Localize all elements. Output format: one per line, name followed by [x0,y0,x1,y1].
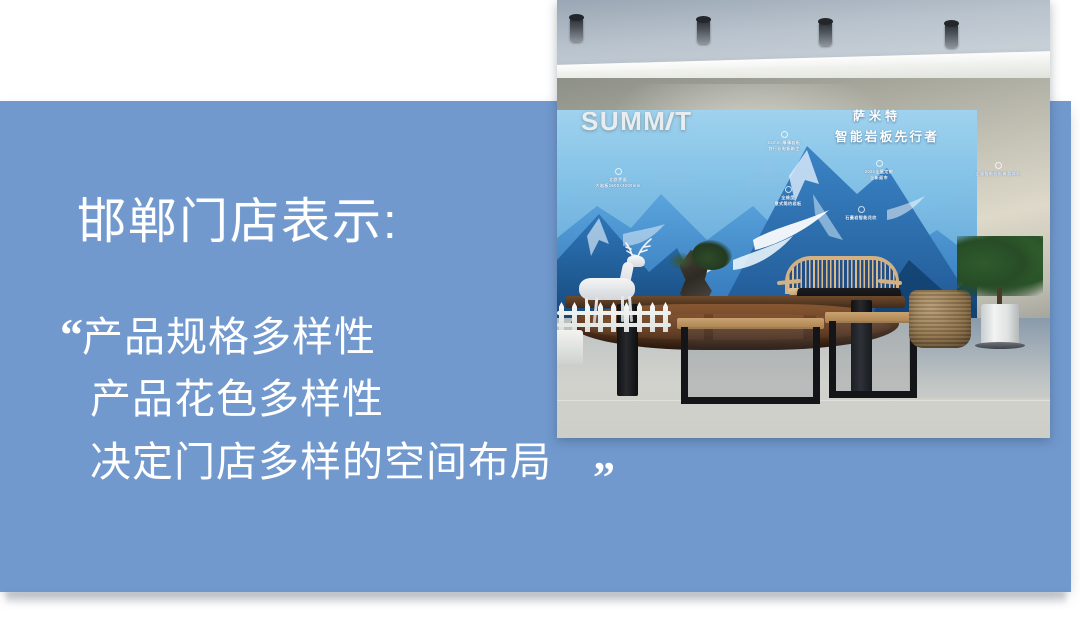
bench-stool [677,318,824,402]
mural-annotation: 全屋智能岩板直营体系 [969,162,1027,177]
quote-line-3: 决定门店多样的空间布局 [90,431,680,493]
fence-picket [663,302,668,332]
bench-stool [825,312,921,392]
quote-open-mark: “ [60,312,83,358]
mural-tagline-cn: 智能岩板先行者 [835,126,939,145]
logo-part-1: SUMM [581,106,666,136]
annotation-line-2: 划行业电板新生 [768,146,799,151]
fence-picket [585,302,590,332]
rockery-foliage [668,252,694,270]
annotation-dot-icon [995,162,1002,169]
track-light-icon [945,24,958,48]
quote-close-mark: ” [593,456,615,500]
track-light-icon [819,22,832,46]
rockery-foliage [692,240,732,270]
annotation-line-1: 15mm 厚薄岩板 [768,140,801,145]
picket-fence [557,300,671,334]
white-display-object [557,330,583,364]
annotation-dot-icon [858,206,865,213]
fence-rail [557,311,671,315]
plant-foliage [957,236,1043,296]
annotation-dot-icon [615,168,622,175]
fence-picket [559,302,564,332]
panel-drop-shadow [6,592,1066,608]
track-light-icon [697,20,710,44]
mural-annotation: 北欧界面 大岩板1600×3200mm [587,168,649,189]
annotation-line-1: 北欧界面 [609,177,627,182]
potted-plant [957,236,1043,348]
mural-brand-cn: 萨米特 [853,107,901,124]
annotation-line-1: 全屋智能岩板直营体系 [976,171,1021,176]
plant-saucer [975,342,1025,349]
slide-canvas: 邯郸门店表示: “ 产品规格多样性 产品花色多样性 决定门店多样的空间布局 ” [0,0,1080,621]
fence-picket [624,302,629,332]
bench-frame [829,321,917,398]
annotation-line-2: 大岩板1600×3200mm [595,183,640,188]
fence-picket [650,302,655,332]
annotation-dot-icon [781,131,788,138]
showroom-photo: SUMMIT 萨米特 智能岩板先行者 北欧界面 大岩板1600×3200mm 全… [557,0,1050,438]
annotation-line-2: 意式简约岩板 [775,201,802,206]
deer-body [579,278,635,300]
annotation-line-1: 全维度 [781,195,794,200]
annotation-line-1: 2021全屋定制 [865,169,893,174]
fence-picket [611,302,616,332]
plant-pot [981,304,1019,346]
mural-annotation: 2021全屋定制 全新面市 [853,160,905,181]
fence-picket [598,302,603,332]
annotation-line-1: 石墨岩智能花纹 [845,215,876,220]
mural-annotation: 15mm 厚薄岩板 划行业电板新生 [753,131,815,152]
annotation-line-2: 全新面市 [870,175,888,180]
annotation-dot-icon [876,160,883,167]
mural-annotation: 全维度 意式简约岩板 [763,186,813,207]
summit-logo: SUMMIT [581,106,693,137]
fence-picket [637,302,642,332]
fence-picket [572,302,577,332]
mural-annotation: 石墨岩智能花纹 [835,206,887,221]
annotation-dot-icon [785,186,792,193]
fence-rail [557,323,671,327]
bench-frame [681,327,820,404]
track-light-icon [570,18,583,42]
page-title: 邯郸门店表示: [77,196,399,249]
